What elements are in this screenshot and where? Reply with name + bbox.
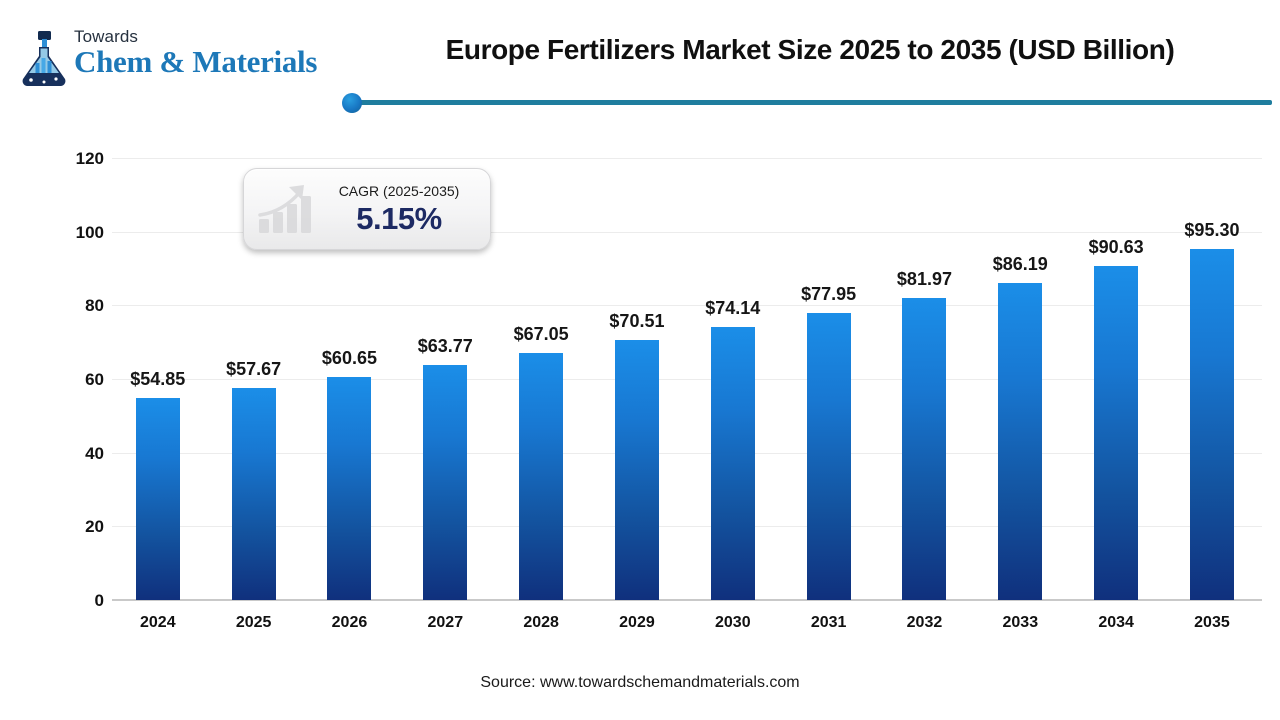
x-axis-tick-label: 2031 [811,614,847,632]
chart-title: Europe Fertilizers Market Size 2025 to 2… [360,34,1260,66]
flask-bar-chart-icon [18,30,70,86]
x-axis-tick-label: 2024 [140,614,176,632]
bar-group: $67.052028 [495,158,587,600]
x-axis-tick-label: 2025 [236,614,272,632]
bar[interactable] [1094,266,1138,600]
bar[interactable] [232,388,276,600]
bar[interactable] [136,398,180,600]
bar[interactable] [519,353,563,600]
y-axis-tick-label: 0 [44,591,104,611]
bar-group: $81.972032 [879,158,971,600]
bar-group: $95.302035 [1166,158,1258,600]
bar-value-label: $57.67 [226,359,281,380]
bar[interactable] [327,377,371,600]
x-axis-tick-label: 2034 [1098,614,1134,632]
y-axis-tick-label: 120 [44,149,104,169]
header-divider-dot [342,93,362,113]
cagr-caption: CAGR (2025-2035) [322,184,476,198]
bar-value-label: $70.51 [609,311,664,332]
bar[interactable] [1190,249,1234,600]
bar-value-label: $63.77 [418,336,473,357]
bar-value-label: $95.30 [1184,220,1239,241]
chart-canvas: Towards Chem & Materials Europe Fertiliz… [0,0,1280,720]
bar[interactable] [423,365,467,600]
brand-wordmark: Towards Chem & Materials [74,28,317,77]
x-axis-tick-label: 2027 [428,614,464,632]
y-axis-tick-label: 60 [44,370,104,390]
x-axis-tick-label: 2029 [619,614,655,632]
bar-value-label: $54.85 [130,369,185,390]
brand-line-1: Towards [74,28,317,45]
bar[interactable] [998,283,1042,600]
bar[interactable] [807,313,851,600]
bar-group: $70.512029 [591,158,683,600]
header-divider [352,100,1272,105]
source-note: Source: www.towardschemandmaterials.com [0,674,1280,692]
brand-logo: Towards Chem & Materials [18,28,348,90]
x-axis-tick-label: 2028 [523,614,559,632]
brand-line-2: Chem & Materials [74,46,317,77]
bar[interactable] [711,327,755,600]
bar-value-label: $90.63 [1089,237,1144,258]
bar-value-label: $67.05 [514,324,569,345]
bar[interactable] [902,298,946,600]
x-axis-tick-label: 2032 [907,614,943,632]
x-axis-tick-label: 2030 [715,614,751,632]
cagr-badge: CAGR (2025-2035) 5.15% [243,168,491,250]
bar-group: $77.952031 [783,158,875,600]
bar-value-label: $86.19 [993,254,1048,275]
cagr-value: 5.15% [322,203,476,234]
x-axis-tick-label: 2033 [1003,614,1039,632]
x-axis-tick-label: 2035 [1194,614,1230,632]
x-axis-tick-label: 2026 [332,614,368,632]
y-axis-tick-label: 80 [44,296,104,316]
bar-value-label: $81.97 [897,269,952,290]
bar-group: $86.192033 [975,158,1067,600]
chart-header: Towards Chem & Materials Europe Fertiliz… [0,0,1280,118]
y-axis-tick-label: 20 [44,517,104,537]
cagr-text-block: CAGR (2025-2035) 5.15% [322,184,480,234]
bar-group: $90.632034 [1070,158,1162,600]
bar-group: $54.852024 [112,158,204,600]
bar-group: $74.142030 [687,158,779,600]
bar-value-label: $74.14 [705,298,760,319]
bar-value-label: $60.65 [322,348,377,369]
growth-bar-chart-arrow-icon [256,182,322,236]
y-axis-tick-label: 40 [44,444,104,464]
bar[interactable] [615,340,659,600]
bar-value-label: $77.95 [801,284,856,305]
y-axis-tick-label: 100 [44,223,104,243]
